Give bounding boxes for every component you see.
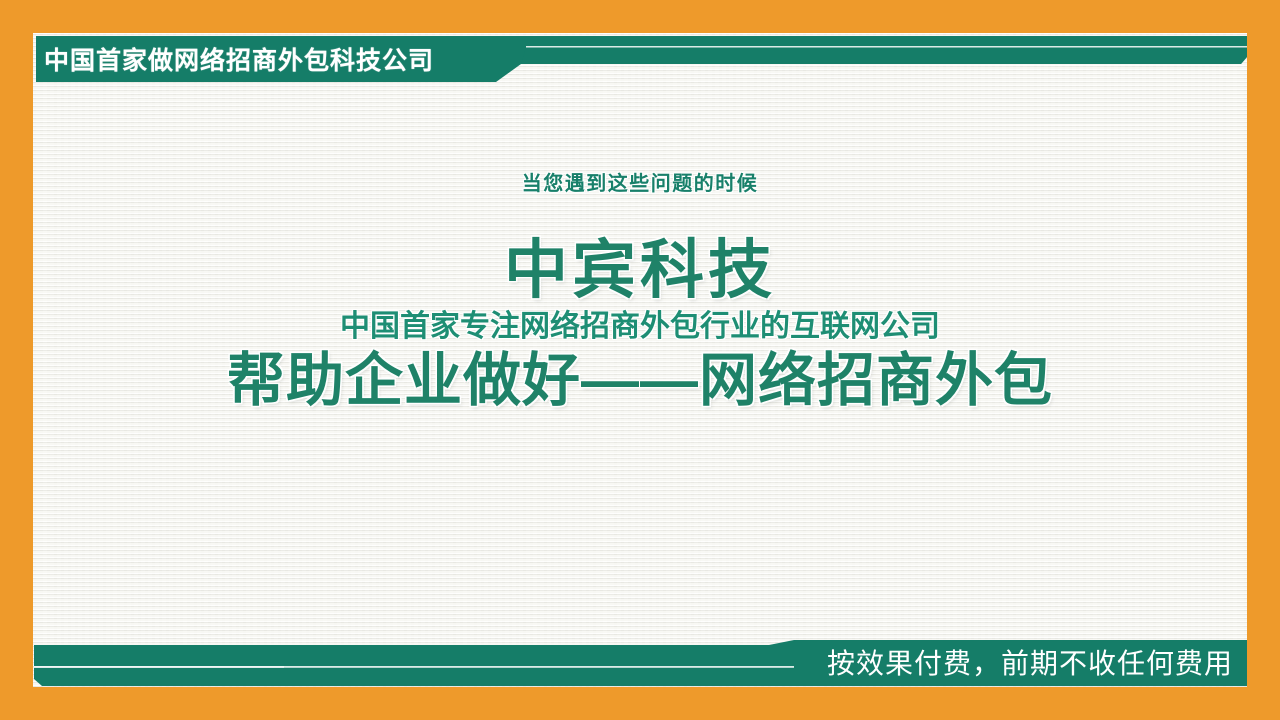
footer-tagline: 按效果付费，前期不收任何费用: [827, 645, 1233, 679]
slide-canvas: [33, 33, 1247, 687]
slide-root: 中国首家做网络招商外包科技公司 当您遇到这些问题的时候 中宾科技 中国首家专注网…: [0, 0, 1280, 720]
header-title: 中国首家做网络招商外包科技公司: [44, 44, 434, 74]
